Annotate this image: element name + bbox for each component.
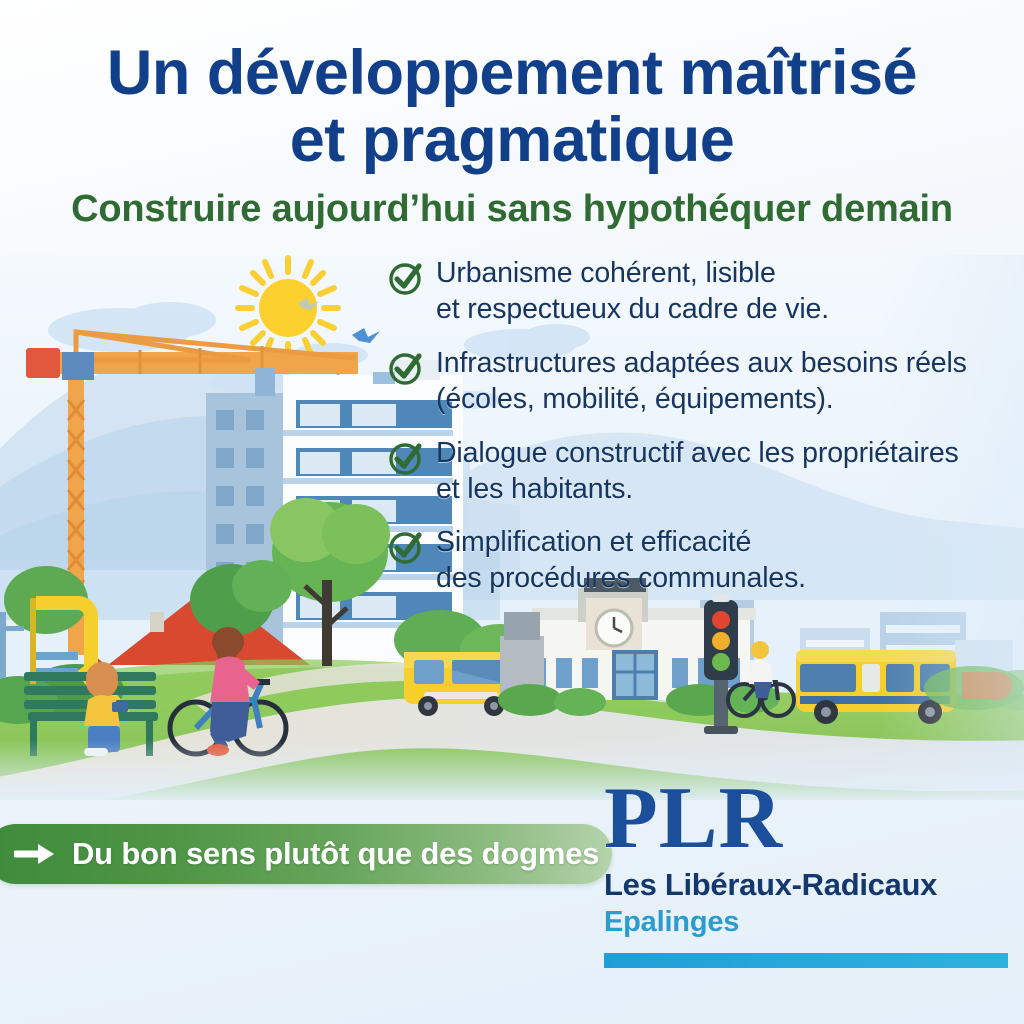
slogan-banner: Du bon sens plutôt que des dogmes xyxy=(0,824,612,884)
title-line-1: Un développement maîtrisé xyxy=(107,38,917,108)
bullet-line-2: et respectueux du cadre de vie. xyxy=(436,292,829,328)
logo-accent-bar xyxy=(604,953,1008,968)
slogan-text: Du bon sens plutôt que des dogmes xyxy=(72,836,599,872)
logo-party-name: Les Libéraux-Radicaux xyxy=(604,867,1014,903)
bullet-text: Urbanisme cohérent, lisible et respectue… xyxy=(436,256,829,328)
poster-subtitle: Construire aujourd’hui sans hypothéquer … xyxy=(0,188,1024,231)
arrow-right-icon xyxy=(14,841,58,867)
bullet-line-1: Simplification et efficacité xyxy=(436,525,806,561)
bullet-line-2: des procédures communales. xyxy=(436,561,806,597)
bullet-line-1: Dialogue constructif avec les propriétai… xyxy=(436,436,959,472)
bullet-line-1: Urbanisme cohérent, lisible xyxy=(436,256,829,292)
bullet-text: Infrastructures adaptées aux besoins rée… xyxy=(436,346,967,418)
check-circle-icon xyxy=(386,438,426,478)
poster-title: Un développement maîtrisé et pragmatique xyxy=(0,40,1024,174)
logo-section-name: Epalinges xyxy=(604,906,1014,939)
bullet-line-2: et les habitants. xyxy=(436,472,959,508)
bullet-item: Urbanisme cohérent, lisible et respectue… xyxy=(386,256,1016,328)
bullet-text: Dialogue constructif avec les propriétai… xyxy=(436,436,959,508)
bullet-list: Urbanisme cohérent, lisible et respectue… xyxy=(386,256,1016,615)
logo-acronym: PLR xyxy=(604,778,1014,861)
check-circle-icon xyxy=(386,527,426,567)
plr-logo: PLR Les Libéraux-Radicaux Epalinges xyxy=(604,778,1014,968)
bullet-line-1: Infrastructures adaptées aux besoins rée… xyxy=(436,346,967,382)
campaign-poster: Un développement maîtrisé et pragmatique… xyxy=(0,0,1024,1024)
bullet-item: Infrastructures adaptées aux besoins rée… xyxy=(386,346,1016,418)
bullet-item: Dialogue constructif avec les propriétai… xyxy=(386,436,1016,508)
check-circle-icon xyxy=(386,348,426,388)
title-line-2: et pragmatique xyxy=(0,107,1024,174)
bullet-line-2: (écoles, mobilité, équipements). xyxy=(436,382,967,418)
bullet-text: Simplification et efficacité des procédu… xyxy=(436,525,806,597)
bullet-item: Simplification et efficacité des procédu… xyxy=(386,525,1016,597)
check-circle-icon xyxy=(386,258,426,298)
